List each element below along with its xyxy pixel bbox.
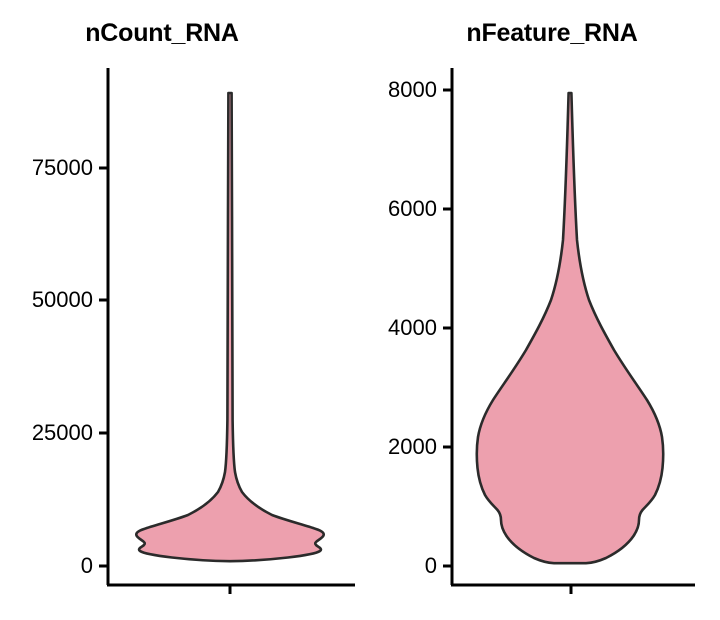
- y-tick-label-50000: 50000: [0, 289, 93, 311]
- y-tick-label-6000: 6000: [360, 198, 437, 220]
- y-tick-label-25000: 25000: [0, 422, 93, 444]
- y-tick-label-2000: 2000: [360, 436, 437, 458]
- y-tick-label-4000: 4000: [360, 317, 437, 339]
- panel-ncount-rna: nCount_RNA 75000 50000 25000 0: [0, 0, 360, 620]
- y-tick-label-0: 0: [0, 555, 93, 577]
- panel-nfeature-rna: nFeature_RNA 8000 6000 4000 2000 0: [360, 0, 720, 620]
- y-tick-label-8000: 8000: [360, 79, 437, 101]
- y-tick-label-75000: 75000: [0, 157, 93, 179]
- y-tick-label-0: 0: [360, 555, 437, 577]
- violin-plot-figure: nCount_RNA 75000 50000 25000 0 nFeature_…: [0, 0, 720, 620]
- violin-ncount-rna: [136, 93, 323, 561]
- violin-nfeature-rna: [477, 93, 663, 563]
